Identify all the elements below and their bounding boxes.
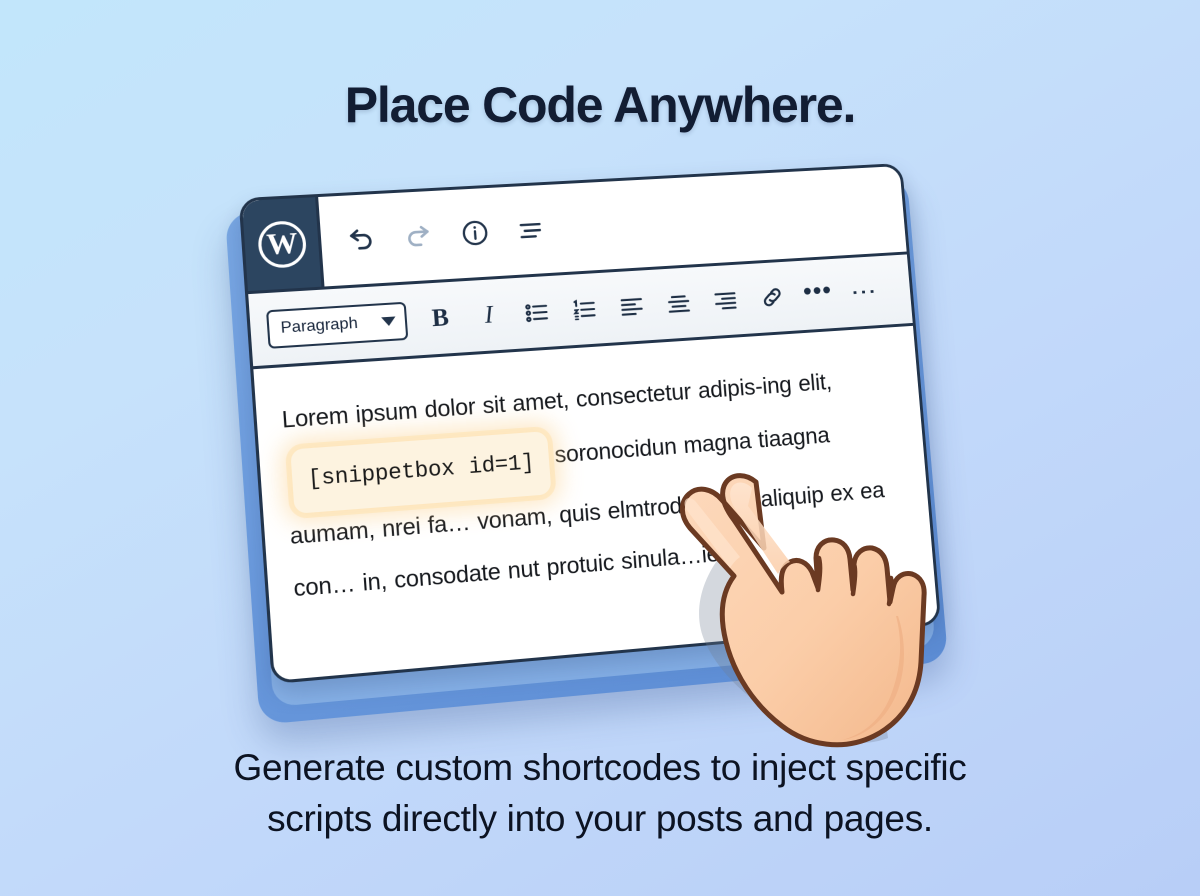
block-type-value: Paragraph — [280, 314, 358, 337]
align-right-icon[interactable] — [710, 285, 741, 316]
undo-icon[interactable] — [345, 224, 378, 256]
editor-card: W — [239, 163, 942, 684]
wordpress-logo-button[interactable]: W — [242, 197, 325, 291]
redo-icon[interactable] — [402, 220, 435, 252]
align-left-icon[interactable] — [616, 290, 648, 321]
more-horizontal-icon[interactable]: ••• — [802, 279, 833, 310]
body-text-segment-1: Lorem ipsum dolor sit amet, consectetur … — [281, 368, 833, 432]
bold-button[interactable]: B — [424, 302, 457, 334]
shortcode-token[interactable]: [snippetbox id=1] — [290, 431, 551, 514]
caption-line-2: scripts directly into your posts and pag… — [0, 793, 1200, 844]
editor-content-area[interactable]: Lorem ipsum dolor sit amet, consectetur … — [253, 326, 938, 684]
wordpress-editor-mockup: W — [216, 163, 950, 722]
block-type-select[interactable]: Paragraph — [266, 301, 408, 348]
caption-line-1: Generate custom shortcodes to inject spe… — [0, 742, 1200, 793]
list-view-icon[interactable] — [514, 214, 546, 245]
page-title: Place Code Anywhere. — [0, 76, 1200, 134]
caption: Generate custom shortcodes to inject spe… — [0, 742, 1200, 844]
numbered-list-icon[interactable] — [568, 293, 600, 325]
editor-illustration: W — [240, 178, 960, 718]
info-circle-icon[interactable] — [458, 217, 490, 249]
wordpress-logo-icon: W — [256, 219, 307, 268]
paragraph-block[interactable]: Lorem ipsum dolor sit amet, consectetur … — [280, 353, 910, 615]
link-icon[interactable] — [756, 282, 787, 313]
align-center-icon[interactable] — [663, 288, 695, 319]
wordpress-logo-glyph: W — [266, 228, 298, 260]
italic-button[interactable]: I — [473, 299, 505, 331]
chevron-down-icon — [381, 316, 396, 326]
bulleted-list-icon[interactable] — [521, 296, 553, 328]
more-vertical-icon[interactable]: ⋮ — [848, 276, 879, 307]
